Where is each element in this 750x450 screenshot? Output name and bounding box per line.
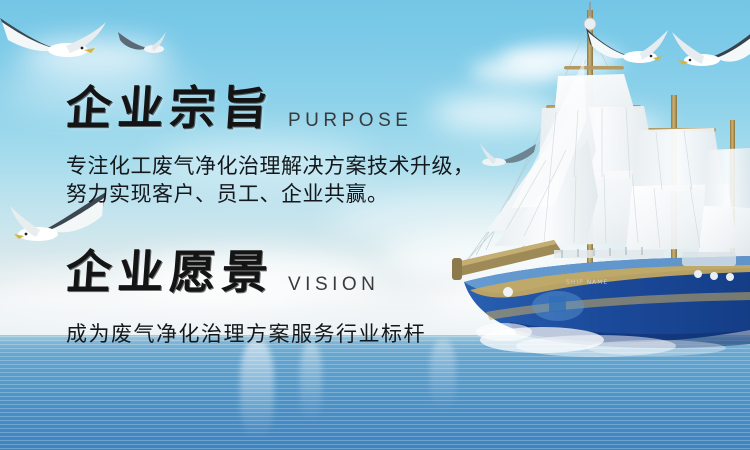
seagull-icon <box>116 28 166 62</box>
purpose-line-2: 努力实现客户、员工、企业共赢。 <box>66 180 475 208</box>
corporate-culture-banner: SHIP NAME <box>0 0 750 450</box>
sail-fore <box>704 148 750 210</box>
sun-glint <box>240 340 274 440</box>
purpose-heading-row: 企业宗旨 PURPOSE <box>66 72 475 138</box>
seagull-icon <box>668 24 750 88</box>
purpose-line-1: 专注化工废气净化治理解决方案技术升级， <box>66 152 475 180</box>
purpose-heading-zh: 企业宗旨 <box>64 72 277 138</box>
vision-heading-row: 企业愿景 VISION <box>66 236 426 302</box>
seagull-icon <box>478 140 538 176</box>
svg-text:SHIP NAME: SHIP NAME <box>566 279 608 286</box>
purpose-heading-en: PURPOSE <box>288 110 412 138</box>
vision-heading-zh: 企业愿景 <box>64 236 277 302</box>
purpose-body: 专注化工废气净化治理解决方案技术升级， 努力实现客户、员工、企业共赢。 <box>66 152 475 208</box>
purpose-block: 企业宗旨 PURPOSE 专注化工废气净化治理解决方案技术升级， 努力实现客户、… <box>66 72 475 208</box>
vision-heading-en: VISION <box>288 274 379 302</box>
seagull-icon <box>582 22 668 80</box>
vision-block: 企业愿景 VISION 成为废气净化治理方案服务行业标杆 <box>66 236 426 348</box>
vision-body: 成为废气净化治理方案服务行业标杆 <box>66 320 426 348</box>
sun-glint-2 <box>300 342 322 422</box>
vision-line-1: 成为废气净化治理方案服务行业标杆 <box>66 320 426 348</box>
